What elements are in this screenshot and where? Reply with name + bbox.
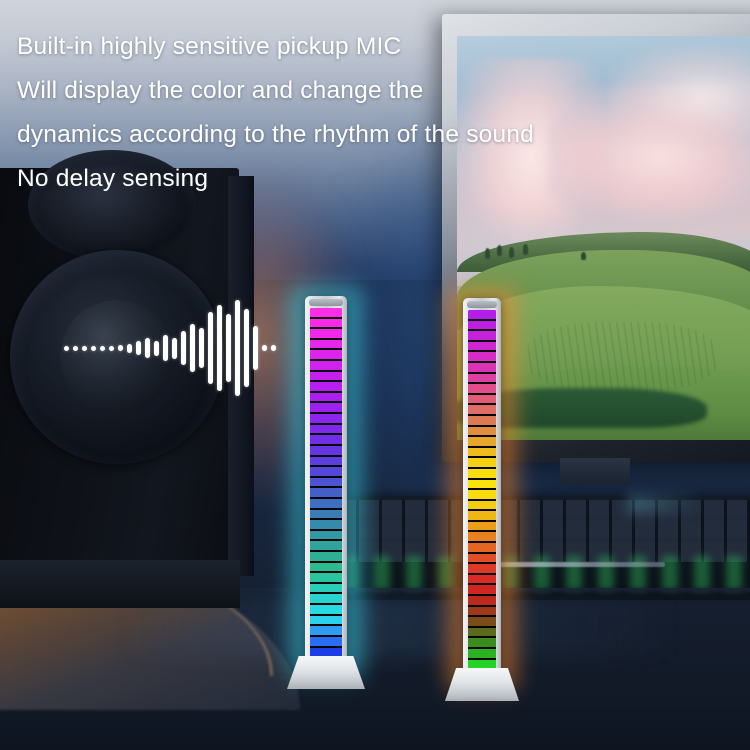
waveform-bar-2: [73, 346, 78, 351]
audio-waveform-icon: [64, 300, 249, 396]
left-light-bar-led-14: [310, 446, 342, 457]
right-light-bar-led-32: [468, 638, 496, 649]
waveform-bar-8: [127, 344, 132, 353]
left-light-bar-led-10: [310, 403, 342, 414]
left-light-bar-led-26: [310, 573, 342, 584]
right-light-bar-led-18: [468, 490, 496, 501]
marketing-copy: Built-in highly sensitive pickup MICWill…: [17, 25, 747, 201]
waveform-bar-20: [235, 300, 240, 396]
left-light-bar-led-24: [310, 552, 342, 563]
waveform-bar-12: [163, 335, 168, 361]
left-light-bar-led-2: [310, 319, 342, 330]
left-light-bar-led-9: [310, 393, 342, 404]
waveform-bar-22: [253, 326, 258, 370]
right-light-bar-led-4: [468, 342, 496, 353]
left-light-bar: [305, 296, 347, 668]
left-light-bar-led-column: [310, 308, 342, 658]
left-light-bar-led-19: [310, 499, 342, 510]
right-light-bar-led-11: [468, 416, 496, 427]
right-light-bar-led-10: [468, 405, 496, 416]
right-light-bar-led-2: [468, 321, 496, 332]
right-light-bar-led-20: [468, 511, 496, 522]
left-light-bar-led-11: [310, 414, 342, 425]
waveform-bar-1: [64, 346, 69, 351]
left-light-bar-led-30: [310, 616, 342, 627]
waveform-bar-4: [91, 346, 96, 351]
left-light-bar-led-20: [310, 510, 342, 521]
waveform-bar-6: [109, 346, 114, 351]
right-light-bar-led-17: [468, 480, 496, 491]
left-light-bar-led-21: [310, 520, 342, 531]
wallpaper-tree: [485, 248, 490, 259]
left-light-bar-led-32: [310, 637, 342, 648]
left-light-bar-led-5: [310, 350, 342, 361]
wallpaper-field-rows: [527, 322, 717, 392]
left-light-bar-led-16: [310, 467, 342, 478]
left-light-bar-led-7: [310, 372, 342, 383]
waveform-bar-17: [208, 312, 213, 384]
wallpaper-tree: [581, 252, 586, 260]
waveform-bar-23: [262, 345, 267, 351]
waveform-bar-5: [100, 346, 105, 351]
right-light-bar-led-24: [468, 554, 496, 565]
left-light-bar-stand: [287, 656, 365, 689]
left-light-bar-led-25: [310, 563, 342, 574]
right-light-bar-led-12: [468, 427, 496, 438]
left-light-bar-led-29: [310, 605, 342, 616]
left-light-bar-led-23: [310, 541, 342, 552]
left-light-bar-led-3: [310, 329, 342, 340]
right-light-bar-led-31: [468, 628, 496, 639]
left-light-bar-led-22: [310, 531, 342, 542]
waveform-bar-19: [226, 314, 231, 382]
monitor-stand: [560, 458, 630, 484]
copy-line-3: dynamics according to the rhythm of the …: [17, 113, 747, 157]
right-light-bar-led-27: [468, 585, 496, 596]
right-light-bar-led-25: [468, 564, 496, 575]
right-light-bar-led-9: [468, 395, 496, 406]
waveform-bar-9: [136, 341, 141, 355]
left-light-bar-led-27: [310, 584, 342, 595]
right-light-bar-led-column: [468, 310, 496, 670]
right-light-bar-led-8: [468, 384, 496, 395]
right-light-bar-top-cap: [467, 301, 497, 308]
waveform-bar-11: [154, 341, 159, 356]
right-light-bar: [463, 298, 501, 680]
right-light-bar-led-33: [468, 649, 496, 660]
left-light-bar-led-6: [310, 361, 342, 372]
right-light-bar-led-13: [468, 437, 496, 448]
copy-line-2: Will display the color and change the: [17, 69, 747, 113]
right-light-bar-led-29: [468, 607, 496, 618]
left-light-bar-led-17: [310, 478, 342, 489]
left-light-bar-led-31: [310, 626, 342, 637]
left-light-bar-led-28: [310, 594, 342, 605]
waveform-bar-18: [217, 305, 222, 391]
left-light-bar-led-13: [310, 435, 342, 446]
right-light-bar-stand: [445, 668, 519, 701]
product-marketing-image: Built-in highly sensitive pickup MICWill…: [0, 0, 750, 750]
right-light-bar-led-14: [468, 448, 496, 459]
waveform-bar-13: [172, 338, 177, 359]
left-light-bar-led-8: [310, 382, 342, 393]
right-light-bar-led-5: [468, 352, 496, 363]
left-light-bar-top-cap: [309, 299, 343, 306]
right-light-bar-led-1: [468, 310, 496, 321]
right-light-bar-led-15: [468, 458, 496, 469]
left-light-bar-led-1: [310, 308, 342, 319]
left-light-bar-led-18: [310, 488, 342, 499]
right-light-bar-led-16: [468, 469, 496, 480]
waveform-bar-15: [190, 324, 195, 372]
left-light-bar-led-15: [310, 457, 342, 468]
waveform-bar-24: [271, 345, 276, 351]
waveform-bar-10: [145, 338, 150, 358]
wallpaper-tree: [509, 247, 514, 258]
right-light-bar-led-7: [468, 374, 496, 385]
waveform-bar-14: [181, 331, 186, 365]
waveform-bar-21: [244, 309, 249, 387]
right-light-bar-led-28: [468, 596, 496, 607]
left-light-bar-led-12: [310, 425, 342, 436]
right-light-bar-led-22: [468, 532, 496, 543]
waveform-bar-3: [82, 346, 87, 351]
copy-line-4: No delay sensing: [17, 157, 747, 201]
waveform-bar-7: [118, 345, 123, 351]
right-light-bar-led-3: [468, 331, 496, 342]
right-light-bar-led-19: [468, 501, 496, 512]
left-light-bar-led-4: [310, 340, 342, 351]
right-light-bar-led-23: [468, 543, 496, 554]
keyboard-light-glint: [628, 494, 698, 514]
copy-line-1: Built-in highly sensitive pickup MIC: [17, 25, 747, 69]
right-light-bar-led-6: [468, 363, 496, 374]
speaker-base: [0, 560, 240, 608]
waveform-bar-16: [199, 328, 204, 368]
wallpaper-tree: [497, 245, 502, 256]
right-light-bar-led-26: [468, 575, 496, 586]
wallpaper-tree: [523, 244, 528, 255]
right-light-bar-led-30: [468, 617, 496, 628]
right-light-bar-led-21: [468, 522, 496, 533]
